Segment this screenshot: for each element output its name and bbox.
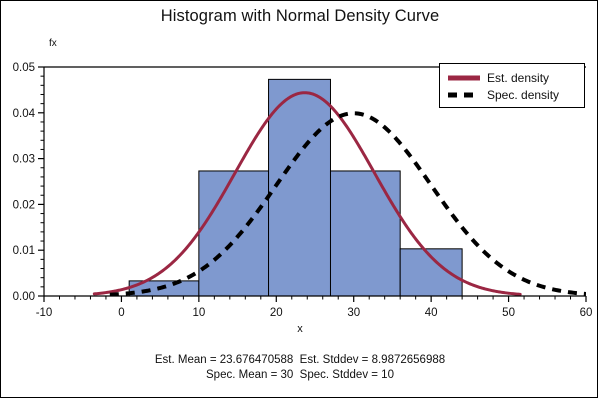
x-tick-label: 60: [580, 307, 593, 319]
chart-figure: Histogram with Normal Density Curve fx 0…: [0, 0, 598, 398]
histogram-bar: [269, 79, 331, 296]
x-axis-label: x: [1, 323, 599, 335]
legend-entry-est-density: Est. density: [440, 69, 584, 86]
x-tick-label: 40: [425, 307, 438, 319]
legend-swatch-solid-line: [447, 71, 481, 85]
histogram-bar: [199, 171, 269, 296]
x-tick-label: -10: [36, 307, 53, 319]
y-tick-label: 0.03: [13, 154, 35, 166]
y-tick-label: 0.00: [13, 291, 35, 303]
x-tick-label: 0: [118, 307, 124, 319]
legend-swatch-dashed-line: [447, 88, 481, 102]
chart-legend: Est. density Spec. density: [439, 63, 585, 108]
x-tick-label: 10: [192, 307, 205, 319]
footnote-line-est: Est. Mean = 23.676470588 Est. Stddev = 8…: [1, 353, 599, 368]
x-tick-label: 50: [502, 307, 515, 319]
y-tick-label: 0.05: [13, 62, 35, 74]
chart-footnotes: Est. Mean = 23.676470588 Est. Stddev = 8…: [1, 353, 599, 383]
legend-label-spec-density: Spec. density: [487, 88, 559, 102]
legend-entry-spec-density: Spec. density: [440, 86, 584, 103]
y-tick-label: 0.01: [13, 245, 35, 257]
x-tick-label: 20: [270, 307, 283, 319]
plot-area: 0.000.010.020.030.040.05-100102030405060: [1, 1, 599, 399]
legend-label-est-density: Est. density: [487, 71, 549, 85]
y-tick-label: 0.04: [13, 108, 36, 120]
histogram-bar: [330, 171, 400, 296]
footnote-line-spec: Spec. Mean = 30 Spec. Stddev = 10: [1, 368, 599, 383]
y-tick-label: 0.02: [13, 199, 35, 211]
x-tick-label: 30: [347, 307, 360, 319]
